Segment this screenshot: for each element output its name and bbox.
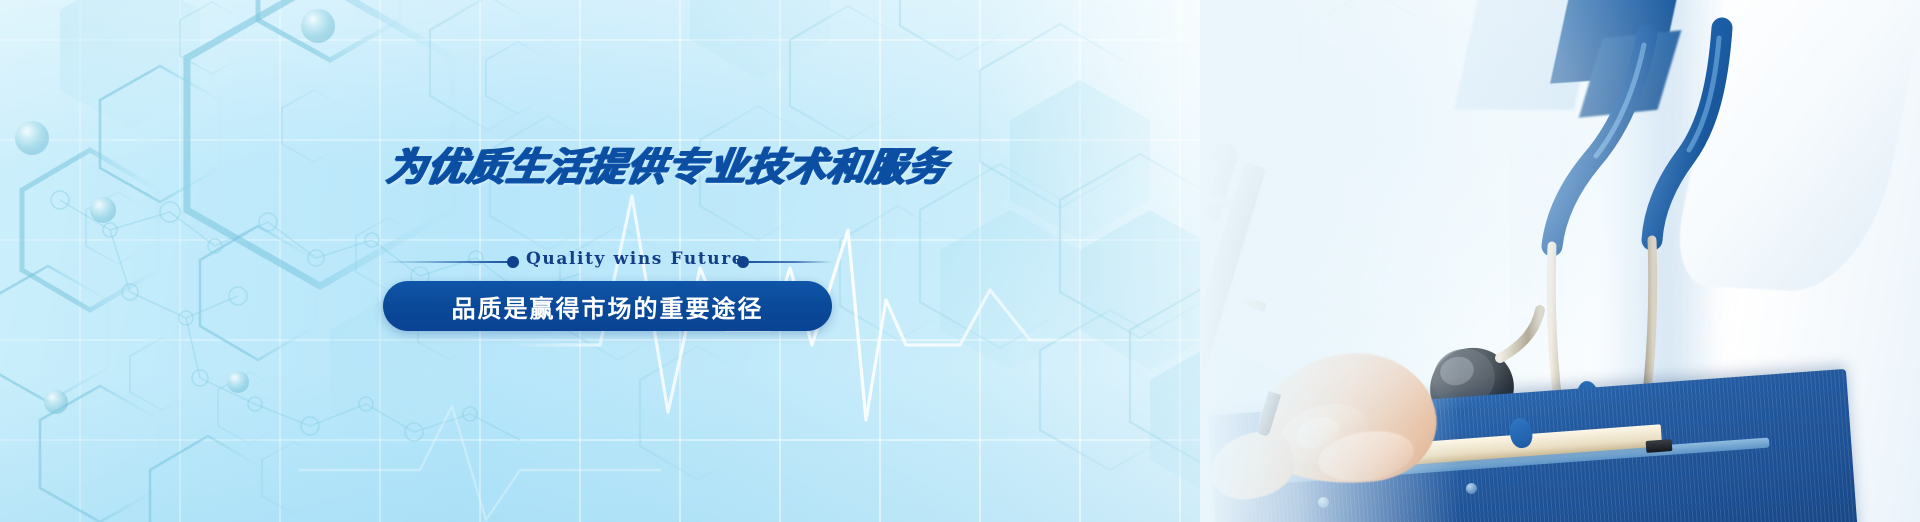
divider-line-right [747,261,833,263]
clipboard-rivet [1466,483,1477,494]
english-tagline: Quality wins Future [526,249,744,269]
banner-content: 为优质生活提供专业技术和服务 Quality wins Future 品质是赢得… [0,0,1000,522]
divider-line-left [383,261,510,263]
page-title: 为优质生活提供专业技术和服务 [383,136,952,192]
tagline-pill[interactable]: 品质是赢得市场的重要途径 [383,281,832,331]
divider: Quality wins Future [383,253,833,271]
dot-icon [507,256,519,268]
tagline-pill-label: 品质是赢得市场的重要途径 [452,289,764,324]
clipboard-clip [1646,439,1673,453]
doctor-photo [1200,0,1920,522]
clipboard-rivet [1318,497,1329,508]
hero-banner: 为优质生活提供专业技术和服务 Quality wins Future 品质是赢得… [0,0,1920,522]
